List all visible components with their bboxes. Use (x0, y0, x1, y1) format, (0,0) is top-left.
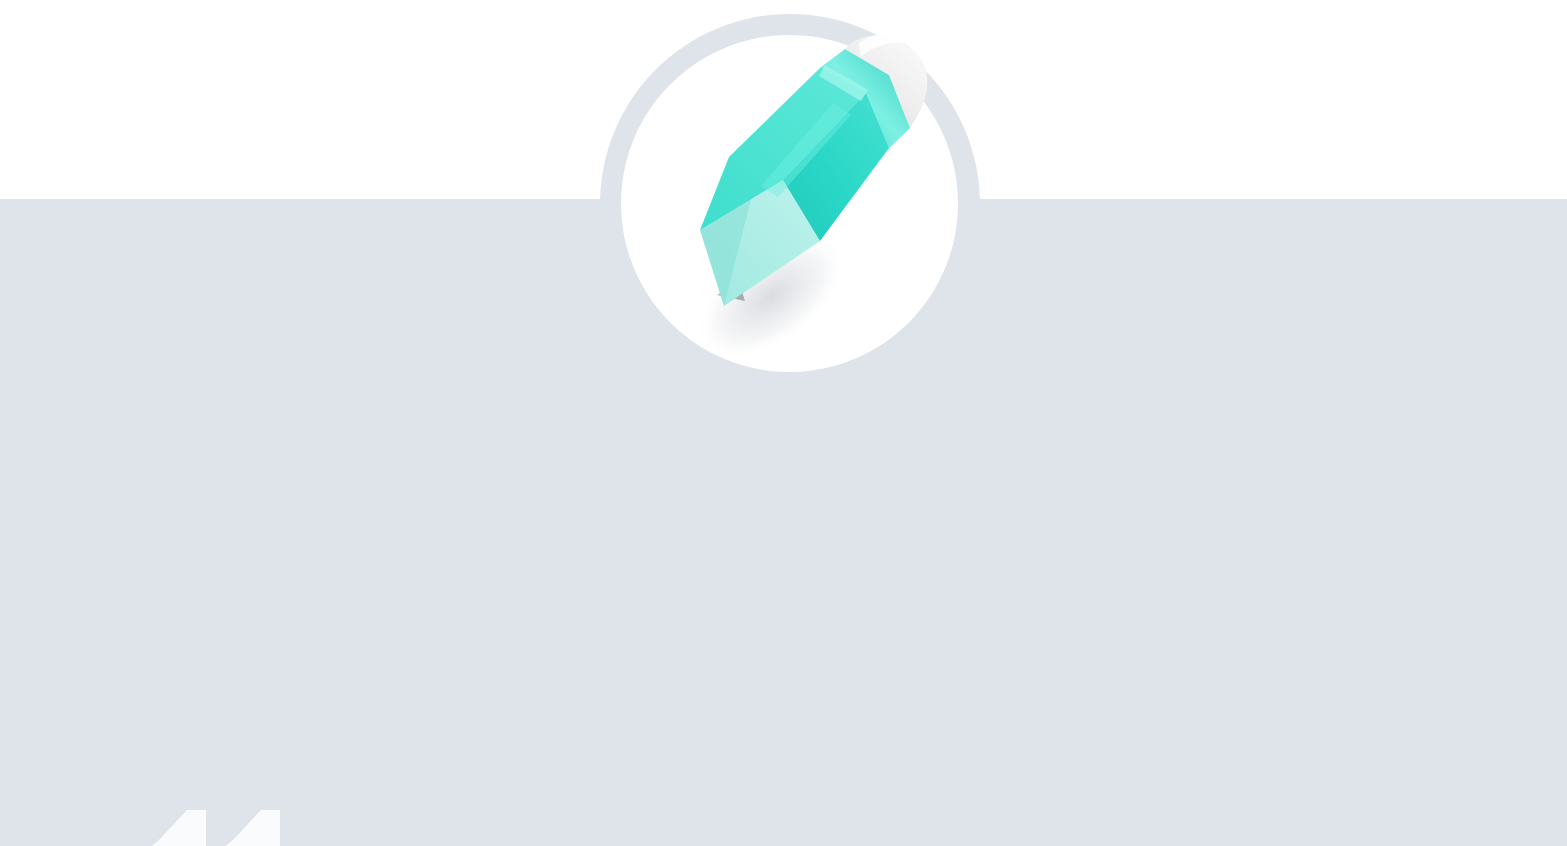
quote-block: A basic rule of thumb is to CREATE A LOO… (0, 400, 1567, 730)
pencil-icon (621, 35, 958, 372)
quote-card: A basic rule of thumb is to CREATE A LOO… (0, 0, 1567, 846)
open-quote-icon (149, 810, 280, 846)
